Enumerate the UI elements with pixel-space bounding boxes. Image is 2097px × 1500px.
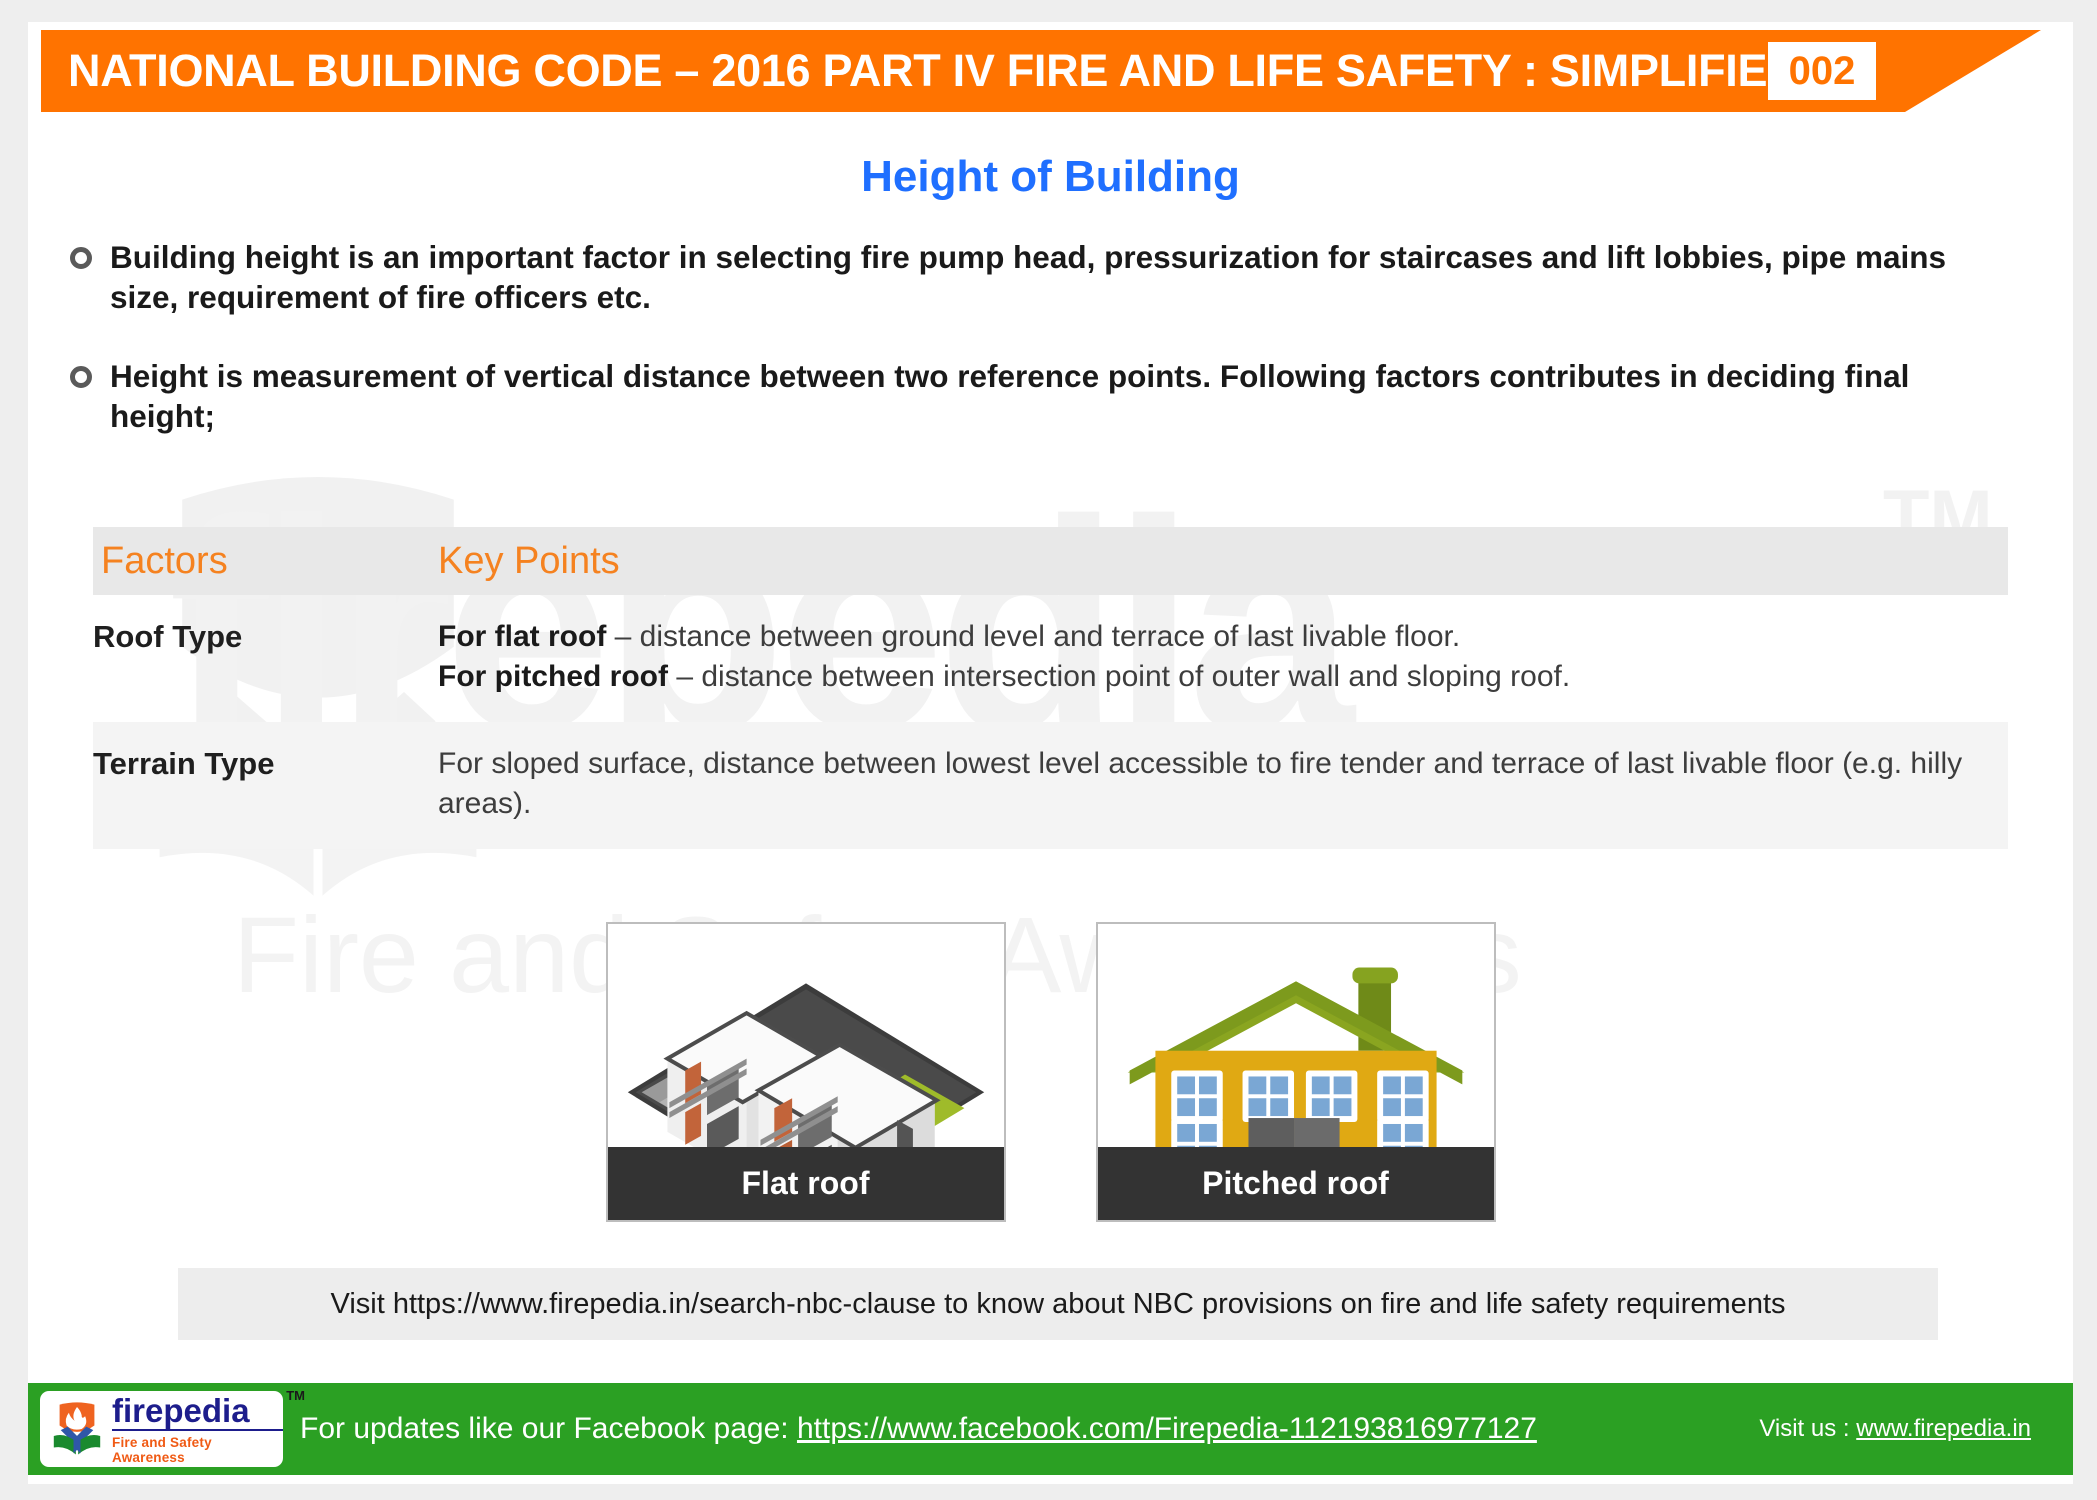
bullet-circle-icon xyxy=(70,247,92,269)
table-cell-factor: Terrain Type xyxy=(93,722,438,808)
table-header-cell-factors: Factors xyxy=(93,540,438,583)
illustration-cards: Flat roof xyxy=(28,922,2073,1222)
bullet-item: Height is measurement of vertical distan… xyxy=(50,356,1980,437)
logo-tm: TM xyxy=(286,1389,305,1402)
column-header-label: Key Points xyxy=(438,540,620,582)
slide-title: Height of Building xyxy=(28,152,2073,202)
key-point-rest: For sloped surface, distance between low… xyxy=(438,747,1962,820)
logo-tagline: Fire and Safety Awareness xyxy=(112,1435,283,1465)
firepedia-logo[interactable]: firepedia TM Fire and Safety Awareness xyxy=(40,1391,283,1467)
bullet-item: Building height is an important factor i… xyxy=(50,237,1980,318)
key-point-bold: For flat roof xyxy=(438,620,606,653)
header-band: NATIONAL BUILDING CODE – 2016 PART IV FI… xyxy=(41,30,2041,112)
logo-name: firepedia TM xyxy=(112,1394,283,1431)
bullet-circle-icon xyxy=(70,366,92,388)
logo-wordmark: firepedia TM Fire and Safety Awareness xyxy=(112,1394,283,1465)
card-flat-roof: Flat roof xyxy=(606,922,1006,1222)
bullet-list: Building height is an important factor i… xyxy=(50,237,1980,474)
key-point-line: For sloped surface, distance between low… xyxy=(438,744,2008,823)
table-cell-factor: Roof Type xyxy=(93,595,438,681)
page-title: NATIONAL BUILDING CODE – 2016 PART IV FI… xyxy=(68,45,1799,97)
key-point-rest: – distance between ground level and terr… xyxy=(606,620,1460,653)
table-row: Terrain Type For sloped surface, distanc… xyxy=(93,722,2008,849)
footer-facebook-label: For updates like our Facebook page: xyxy=(300,1412,797,1445)
table-cell-keypoints: For sloped surface, distance between low… xyxy=(438,722,2008,849)
bullet-text: Building height is an important factor i… xyxy=(110,237,1980,318)
footer-visit-link[interactable]: www.firepedia.in xyxy=(1856,1415,2031,1442)
column-header-label: Factors xyxy=(101,540,228,582)
visit-link-text: Visit https://www.firepedia.in/search-nb… xyxy=(331,1288,1786,1321)
footer-visit: Visit us : www.firepedia.in xyxy=(1759,1415,2031,1443)
footer-facebook: For updates like our Facebook page: http… xyxy=(300,1412,1537,1446)
firepedia-emblem-icon xyxy=(48,1400,106,1458)
footer-bar: firepedia TM Fire and Safety Awareness F… xyxy=(28,1383,2073,1475)
card-caption: Flat roof xyxy=(608,1147,1004,1220)
key-point-bold: For pitched roof xyxy=(438,660,668,693)
footer-facebook-link[interactable]: https://www.facebook.com/Firepedia-11219… xyxy=(797,1412,1537,1445)
slide-number-badge: 002 xyxy=(1768,42,1876,100)
key-point-line: For flat roof – distance between ground … xyxy=(438,617,2008,657)
slide-page: firepedia TM Fire and Safety Awareness N… xyxy=(28,22,2073,1484)
bullet-text: Height is measurement of vertical distan… xyxy=(110,356,1980,437)
table-cell-keypoints: For flat roof – distance between ground … xyxy=(438,595,2008,722)
visit-link-strip[interactable]: Visit https://www.firepedia.in/search-nb… xyxy=(178,1268,1938,1340)
card-pitched-roof: Pitched roof xyxy=(1096,922,1496,1222)
table-row: Roof Type For flat roof – distance betwe… xyxy=(93,595,2008,722)
slide-number-text: 002 xyxy=(1789,49,1856,94)
table-header-cell-keypoints: Key Points xyxy=(438,540,2008,583)
factor-label: Roof Type xyxy=(93,617,438,655)
key-point-rest: – distance between intersection point of… xyxy=(668,660,1570,693)
logo-name-text: firepedia xyxy=(112,1392,250,1429)
footer-visit-label: Visit us : xyxy=(1759,1415,1856,1442)
card-caption: Pitched roof xyxy=(1098,1147,1494,1220)
key-point-line: For pitched roof – distance between inte… xyxy=(438,657,2008,697)
factors-table: Factors Key Points Roof Type For flat ro… xyxy=(93,527,2008,849)
factor-label: Terrain Type xyxy=(93,744,438,782)
table-header-row: Factors Key Points xyxy=(93,527,2008,595)
